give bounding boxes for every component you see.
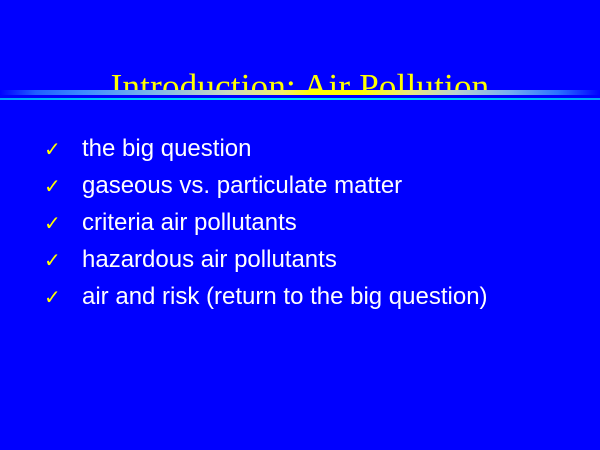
list-item-label: criteria air pollutants bbox=[82, 210, 297, 236]
title-divider bbox=[0, 88, 600, 104]
list-item-label: the big question bbox=[82, 136, 251, 162]
list-item: ✓ hazardous air pollutants bbox=[44, 247, 584, 284]
list-item: ✓ gaseous vs. particulate matter bbox=[44, 173, 584, 210]
check-icon: ✓ bbox=[44, 210, 82, 236]
check-icon: ✓ bbox=[44, 136, 82, 162]
list-item-label: air and risk (return to the big question… bbox=[82, 284, 488, 310]
bullet-list: ✓ the big question ✓ gaseous vs. particu… bbox=[44, 136, 584, 321]
divider-base bbox=[0, 100, 600, 104]
check-icon: ✓ bbox=[44, 284, 82, 310]
list-item-label: gaseous vs. particulate matter bbox=[82, 173, 402, 199]
check-icon: ✓ bbox=[44, 247, 82, 273]
list-item: ✓ criteria air pollutants bbox=[44, 210, 584, 247]
list-item-label: hazardous air pollutants bbox=[82, 247, 337, 273]
list-item: ✓ air and risk (return to the big questi… bbox=[44, 284, 584, 321]
presentation-slide: Introduction: Air Pollution ✓ the big qu… bbox=[0, 0, 600, 450]
check-icon: ✓ bbox=[44, 173, 82, 199]
list-item: ✓ the big question bbox=[44, 136, 584, 173]
